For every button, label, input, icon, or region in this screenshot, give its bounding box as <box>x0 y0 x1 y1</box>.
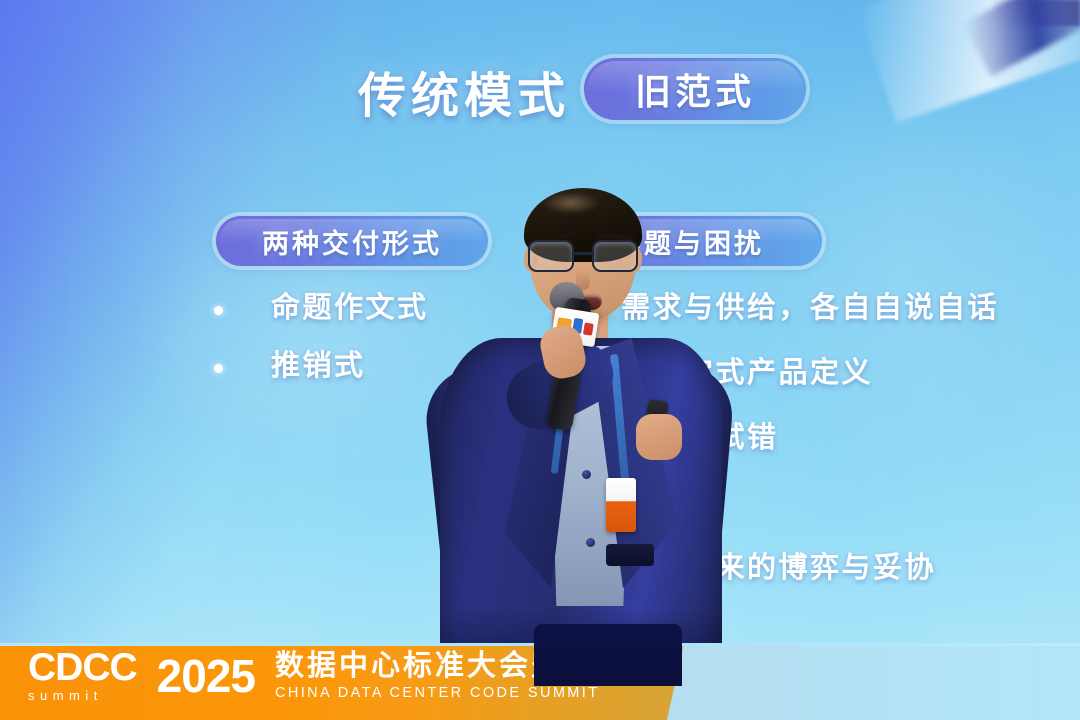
slide-title: 传统模式 <box>358 56 570 126</box>
banner-title-english: CHINA DATA CENTER CODE SUMMIT <box>275 684 659 702</box>
bullet-dot-icon <box>214 364 223 373</box>
presentation-photo: 传统模式 旧范式 两种交付形式 难题与困扰 命题作文式 推销式 需求与供给，各自… <box>0 0 1080 720</box>
speaker-name-badge <box>606 478 636 532</box>
cdcc-logo-wordmark: CDCC <box>28 649 137 687</box>
glasses-bridge <box>574 252 594 255</box>
banner-year: 2025 <box>157 653 255 699</box>
speaker-jacket-pocket <box>606 544 654 566</box>
mic-flag-mark-red <box>583 322 594 335</box>
speaker-jacket-button-upper <box>582 470 591 479</box>
slide-title-badge: 旧范式 <box>584 58 806 120</box>
speaker-hand-right <box>636 414 682 460</box>
slide-title-badge-label: 旧范式 <box>635 63 755 115</box>
cdcc-logo: CDCC summit <box>28 649 137 703</box>
glasses-lens-left <box>528 240 574 272</box>
glasses-lens-right <box>592 240 638 272</box>
cdcc-logo-tagline: summit <box>28 688 103 703</box>
speaker-figure <box>430 178 730 678</box>
list-item-label: 命题作文式 <box>237 290 429 326</box>
speaker-glasses <box>526 240 642 274</box>
speaker-jacket-button-lower <box>586 538 595 547</box>
speaker-torso-over-banner <box>534 624 682 686</box>
bullet-dot-icon <box>214 306 223 315</box>
left-section-heading-label: 两种交付形式 <box>262 222 442 261</box>
speaker-hair-highlight <box>542 192 600 214</box>
list-item-label: 推销式 <box>237 348 366 384</box>
